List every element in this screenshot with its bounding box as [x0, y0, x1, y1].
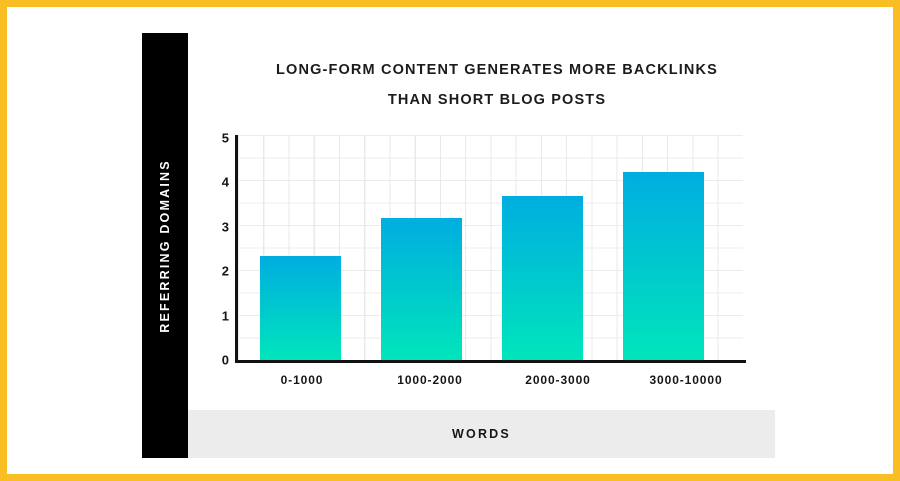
y-tick-3: 3 [203, 219, 229, 234]
bar-0 [260, 256, 341, 360]
bar-3 [623, 172, 704, 360]
plot-grid [238, 135, 743, 360]
x-axis-line [235, 360, 746, 363]
bar-1 [381, 218, 462, 360]
x-axis-tick-labels: 0-1000 1000-2000 2000-3000 3000-10000 [238, 373, 750, 395]
plot-region: 5 4 3 2 1 0 [203, 135, 748, 365]
bar-2 [502, 196, 583, 360]
chart-frame: REFERRING DOMAINS LONG-FORM CONTENT GENE… [0, 0, 900, 481]
bar-series [238, 135, 743, 360]
y-axis-title: REFERRING DOMAINS [158, 159, 172, 333]
y-tick-2: 2 [203, 264, 229, 279]
chart-title-line-1: LONG-FORM CONTENT GENERATES MORE BACKLIN… [276, 62, 718, 78]
y-tick-5: 5 [203, 131, 229, 146]
y-axis-tick-labels: 5 4 3 2 1 0 [203, 135, 229, 361]
x-tick-2: 2000-3000 [494, 373, 622, 395]
y-tick-0: 0 [203, 353, 229, 368]
y-axis-title-band: REFERRING DOMAINS [142, 33, 188, 458]
x-axis-title: WORDS [452, 427, 511, 441]
x-tick-1: 1000-2000 [366, 373, 494, 395]
x-axis-title-band: WORDS [188, 410, 775, 458]
chart-title-line-2: THAN SHORT BLOG POSTS [207, 85, 787, 115]
y-tick-1: 1 [203, 308, 229, 323]
x-tick-0: 0-1000 [238, 373, 366, 395]
x-tick-3: 3000-10000 [622, 373, 750, 395]
chart-title: LONG-FORM CONTENT GENERATES MORE BACKLIN… [207, 55, 787, 115]
y-tick-4: 4 [203, 175, 229, 190]
